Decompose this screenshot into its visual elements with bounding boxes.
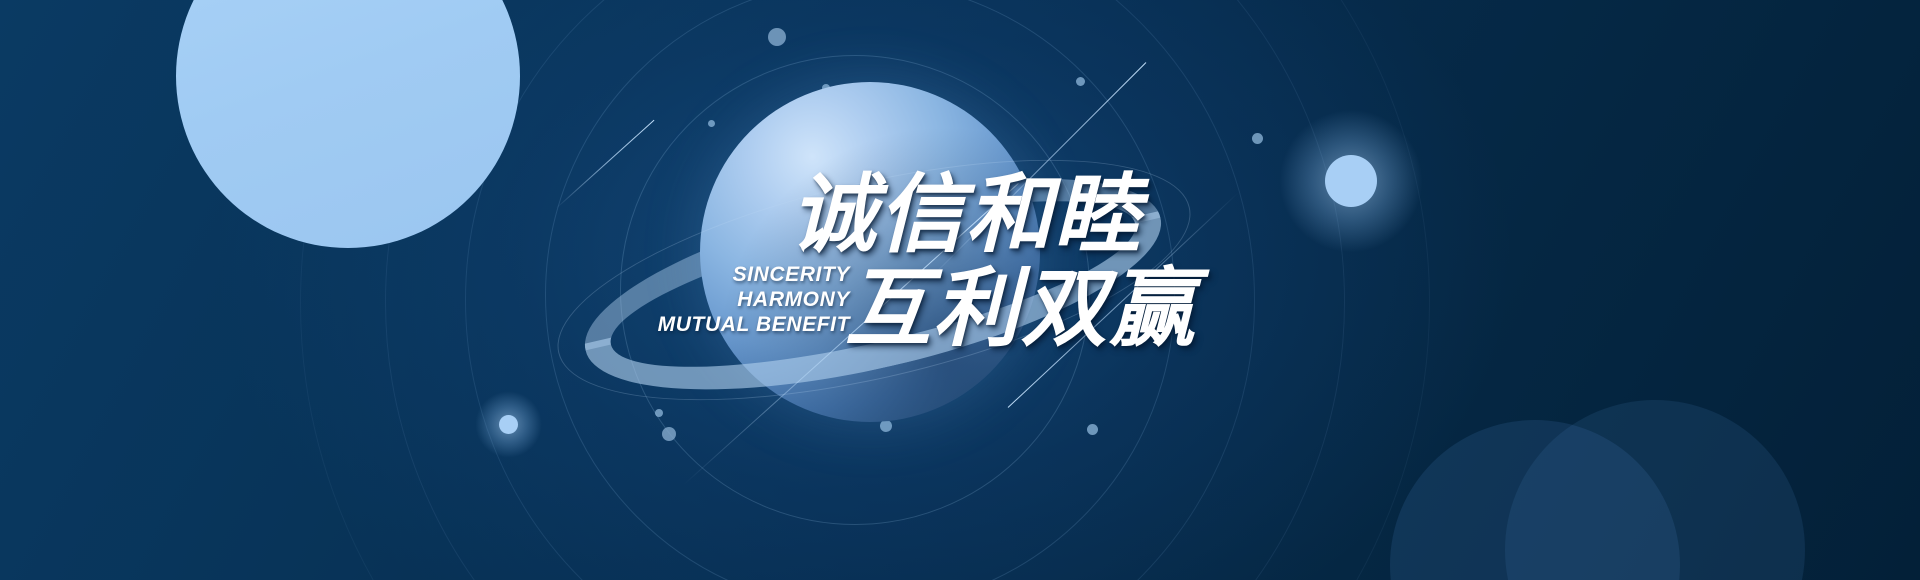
glow-orb-small <box>499 415 518 434</box>
glow-orb-large-core <box>1325 155 1377 207</box>
orbit-dot-1 <box>768 28 786 46</box>
glow-orb-small-core <box>499 415 518 434</box>
planet-graphic <box>700 82 1040 422</box>
glow-orb-large <box>1325 155 1377 207</box>
hero-banner: 诚信和睦 互利双赢 SINCERITY HARMONY MUTUAL BENEF… <box>0 0 1920 580</box>
orbit-dot-6 <box>1252 133 1263 144</box>
orbit-dot-8 <box>662 427 676 441</box>
orbit-dot-7 <box>655 409 663 417</box>
orbit-dot-5 <box>1076 77 1085 86</box>
orbit-dot-10 <box>1087 424 1098 435</box>
